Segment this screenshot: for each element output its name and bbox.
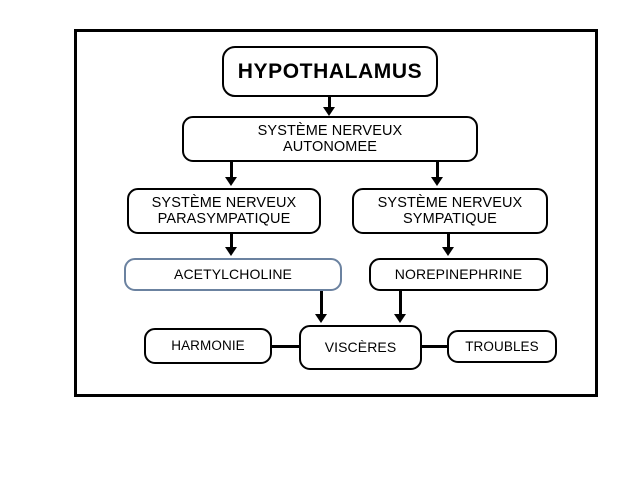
node-norepinephrine[interactable]: NOREPINEPHRINE xyxy=(369,258,548,291)
connector-acetylcholine-to-visceres xyxy=(320,290,323,315)
node-hypothalamus[interactable]: HYPOTHALAMUS xyxy=(222,46,438,97)
connector-sympathetic-to-norepinephrine xyxy=(447,233,450,248)
connector-parasympathetic-to-acetylcholine xyxy=(230,233,233,248)
arrowhead-norepinephrine-to-visceres xyxy=(394,314,406,323)
connector-autonomic-to-sympathetic xyxy=(436,161,439,178)
node-acetylcholine[interactable]: ACETYLCHOLINE xyxy=(124,258,342,291)
connector-visceres-to-troubles xyxy=(420,345,449,348)
arrowhead-parasympathetic-to-acetylcholine xyxy=(225,247,237,256)
node-harmonie[interactable]: HARMONIE xyxy=(144,328,272,364)
arrowhead-autonomic-to-parasympathetic xyxy=(225,177,237,186)
node-visceres[interactable]: VISCÈRES xyxy=(299,325,422,370)
node-autonomic-nervous-system[interactable]: SYSTÈME NERVEUX AUTONOMEE xyxy=(182,116,478,162)
connector-autonomic-to-parasympathetic xyxy=(230,161,233,178)
arrowhead-acetylcholine-to-visceres xyxy=(315,314,327,323)
arrowhead-autonomic-to-sympathetic xyxy=(431,177,443,186)
node-parasympathetic-nervous-system[interactable]: SYSTÈME NERVEUX PARASYMPATIQUE xyxy=(127,188,321,234)
connector-harmonie-to-visceres xyxy=(270,345,301,348)
connector-norepinephrine-to-visceres xyxy=(399,290,402,315)
arrowhead-sympathetic-to-norepinephrine xyxy=(442,247,454,256)
diagram-canvas: HYPOTHALAMUS SYSTÈME NERVEUX AUTONOMEE S… xyxy=(0,0,640,480)
node-sympathetic-nervous-system[interactable]: SYSTÈME NERVEUX SYMPATIQUE xyxy=(352,188,548,234)
arrowhead-hypothalamus-to-autonomic xyxy=(323,107,335,116)
node-troubles[interactable]: TROUBLES xyxy=(447,330,557,363)
